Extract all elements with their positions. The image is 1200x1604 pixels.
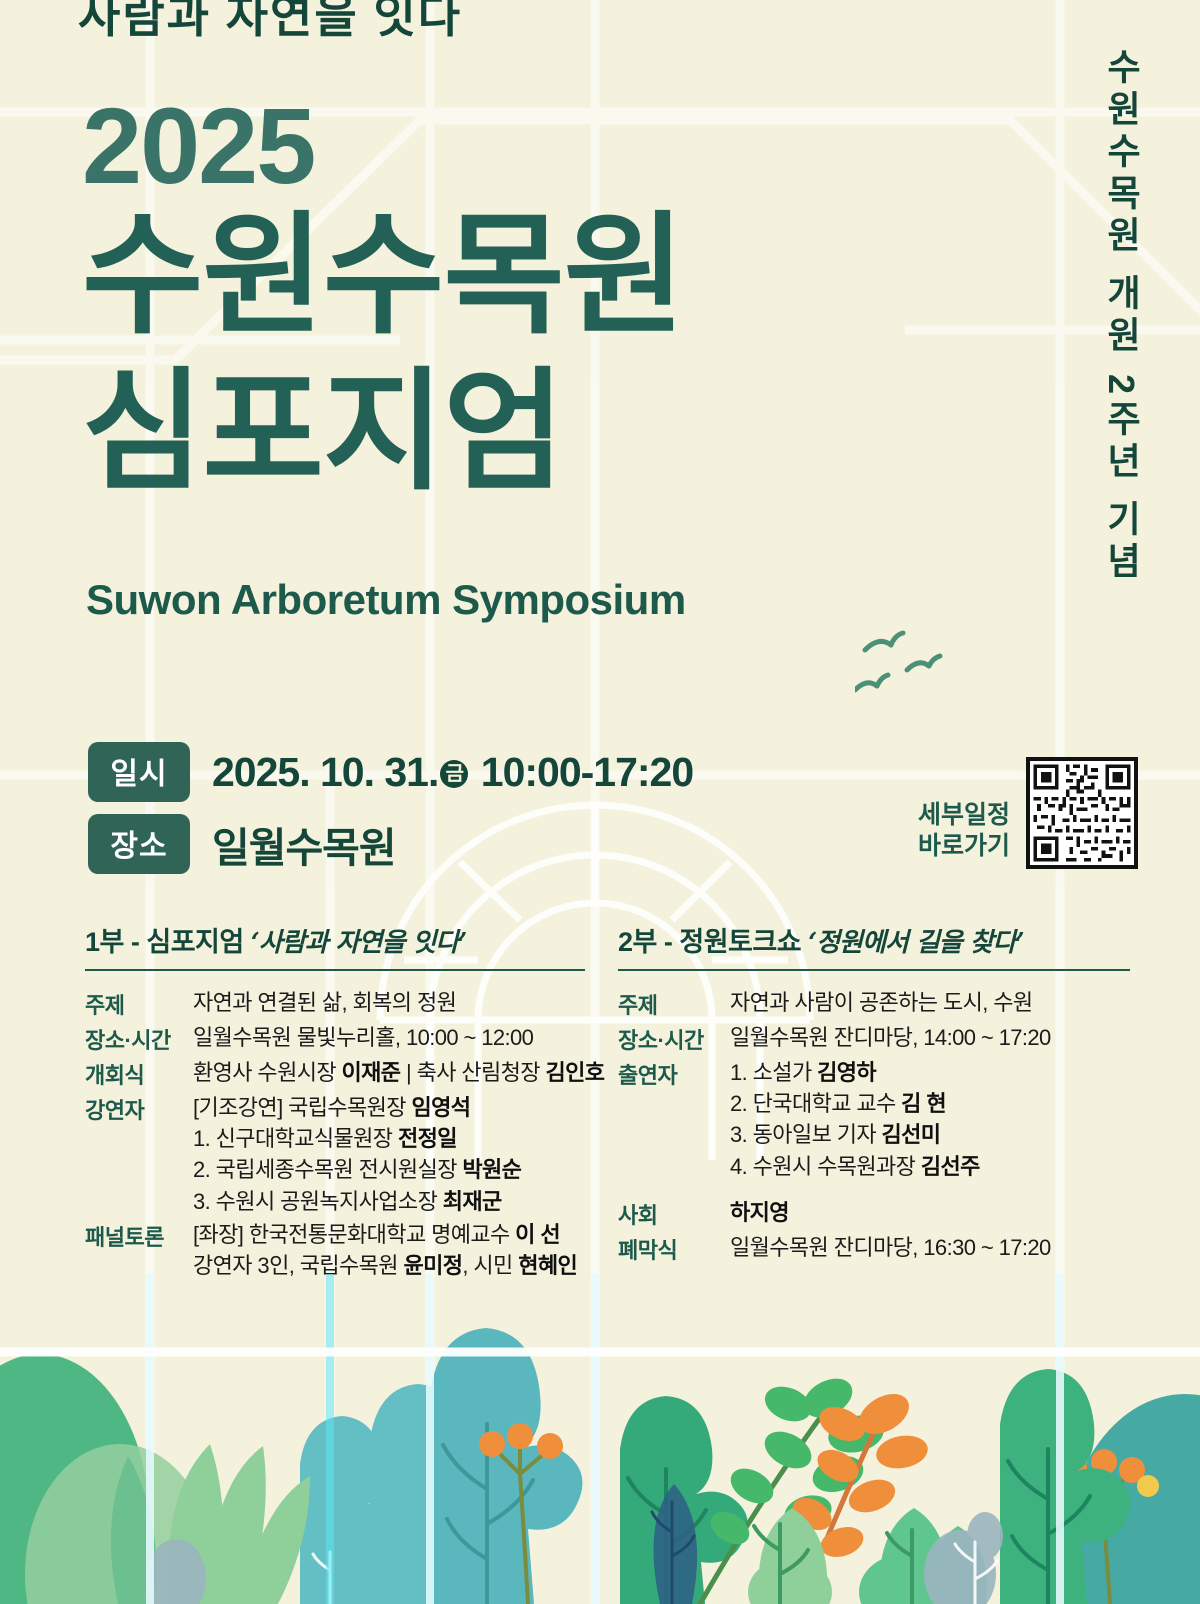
qr-caption: 세부일정 바로가기: [918, 800, 1010, 863]
part2-heading: 2부 - 정원토크쇼 ‘정원에서 길을 찾다’: [618, 920, 1138, 959]
part2-row-host: 사회 하지영: [618, 1197, 1138, 1230]
anniversary-vertical-text: 수원수목원 개원 2주년 기념: [1088, 6, 1144, 626]
part2-venue-body: 일월수목원 잔디마당, 14:00 ~ 17:20: [730, 1022, 1138, 1055]
part2-row-cast: 출연자 1. 소설가 김영하 2. 단국대학교 교수 김 현 3. 동아일보 기…: [618, 1057, 1138, 1182]
part1-heading: 1부 - 심포지엄 ‘사람과 자연을 잇다’: [85, 920, 600, 959]
part1-heading-main: 1부 - 심포지엄: [85, 927, 244, 957]
qr-caption-line1: 세부일정: [918, 800, 1010, 831]
part2-closing-label: 폐막식: [618, 1232, 730, 1265]
place-value: 일월수목원: [212, 814, 396, 874]
part1-row-opening: 개회식 환영사 수원시장 이재준 | 축사 산림청장 김인호: [85, 1057, 600, 1090]
date-prefix: 2025. 10. 31.: [212, 749, 438, 795]
part1-row-venue-time: 장소·시간 일월수목원 물빛누리홀, 10:00 ~ 12:00: [85, 1022, 600, 1055]
part2-heading-quote: ‘정원에서 길을 찾다’: [808, 928, 1024, 958]
date-time-range: 10:00-17:20: [481, 749, 693, 795]
part2-heading-main: 2부 - 정원토크쇼: [618, 927, 801, 957]
part1-venue-line: 일월수목원 물빛누리홀, 10:00 ~ 12:00: [193, 1022, 600, 1053]
part2-closing-line: 일월수목원 잔디마당, 16:30 ~ 17:20: [730, 1232, 1138, 1263]
poster-canvas: 사람과 자연을 잇다 2025 수원수목원 심포지엄 Suwon Arboret…: [0, 0, 1200, 1604]
part1-topic-line: 자연과 연결된 삶, 회복의 정원: [193, 987, 600, 1018]
part2-topic-body: 자연과 사람이 공존하는 도시, 수원: [730, 987, 1138, 1020]
part1-row-panel: 패널토론 [좌장] 한국전통문화대학교 명예교수 이 선 강연자 3인, 국립수…: [85, 1219, 600, 1281]
part1-speakers-label: 강연자: [85, 1092, 193, 1217]
weekday-chip: 금: [440, 760, 468, 788]
event-place-row: 장소 일월수목원: [88, 814, 693, 874]
part1-topic-body: 자연과 연결된 삶, 회복의 정원: [193, 987, 600, 1020]
bottom-foliage-icon: [0, 1274, 1200, 1604]
part2-cast-body: 1. 소설가 김영하 2. 단국대학교 교수 김 현 3. 동아일보 기자 김선…: [730, 1057, 1138, 1182]
part2-venue-label: 장소·시간: [618, 1022, 730, 1055]
part2-closing-body: 일월수목원 잔디마당, 16:30 ~ 17:20: [730, 1232, 1138, 1265]
part1-divider: [85, 969, 585, 971]
part2-host-value: 하지영: [730, 1200, 789, 1225]
part1-speaker-1: 1. 신구대학교식물원장 전정일: [193, 1123, 600, 1154]
flying-birds-icon: [855, 628, 965, 708]
part2-divider: [618, 969, 1130, 971]
date-label-badge: 일시: [88, 742, 190, 802]
event-date-row: 일시 2025. 10. 31.금 10:00-17:20: [88, 742, 693, 802]
part2-host-label: 사회: [618, 1197, 730, 1230]
part2-cast-1: 1. 소설가 김영하: [730, 1057, 1138, 1088]
part1-panel-chair: [좌장] 한국전통문화대학교 명예교수 이 선: [193, 1219, 600, 1250]
part2-topic-line: 자연과 사람이 공존하는 도시, 수원: [730, 987, 1138, 1018]
part1-venue-label: 장소·시간: [85, 1022, 193, 1055]
qr-code-modules: [1030, 761, 1134, 865]
part1-topic-label: 주제: [85, 987, 193, 1020]
part2-cast-4: 4. 수원시 수목원과장 김선주: [730, 1151, 1138, 1182]
part2-spacer: [618, 1184, 1138, 1197]
part2-topic-label: 주제: [618, 987, 730, 1020]
poster-subtitle-english: Suwon Arboretum Symposium: [86, 576, 686, 624]
part2-venue-line: 일월수목원 잔디마당, 14:00 ~ 17:20: [730, 1022, 1138, 1053]
part2-row-venue-time: 장소·시간 일월수목원 잔디마당, 14:00 ~ 17:20: [618, 1022, 1138, 1055]
part1-speakers-body: [기조강연] 국립수목원장 임영석 1. 신구대학교식물원장 전정일 2. 국립…: [193, 1092, 600, 1217]
part1-panel-label: 패널토론: [85, 1219, 193, 1281]
poster-title: 수원수목원 심포지엄: [82, 198, 684, 510]
date-value: 2025. 10. 31.금 10:00-17:20: [212, 749, 693, 796]
part1-opening-body: 환영사 수원시장 이재준 | 축사 산림청장 김인호: [193, 1057, 604, 1090]
place-label-badge: 장소: [88, 814, 190, 874]
part1-panel-body: [좌장] 한국전통문화대학교 명예교수 이 선 강연자 3인, 국립수목원 윤미…: [193, 1219, 600, 1281]
qr-code-link[interactable]: [1026, 757, 1138, 869]
part1-heading-quote: ‘사람과 자연을 잇다’: [251, 928, 467, 958]
part1-speaker-3: 3. 수원시 공원녹지사업소장 최재군: [193, 1186, 600, 1217]
part1-speaker-2: 2. 국립세종수목원 전시원실장 박원순: [193, 1154, 600, 1185]
program-part2: 2부 - 정원토크쇼 ‘정원에서 길을 찾다’ 주제 자연과 사람이 공존하는 …: [618, 920, 1138, 1267]
part1-venue-body: 일월수목원 물빛누리홀, 10:00 ~ 12:00: [193, 1022, 600, 1055]
part2-cast-2: 2. 단국대학교 교수 김 현: [730, 1088, 1138, 1119]
part1-speaker-keynote: [기조강연] 국립수목원장 임영석: [193, 1092, 600, 1123]
event-info-block: 일시 2025. 10. 31.금 10:00-17:20 장소 일월수목원: [88, 742, 693, 886]
program-part1: 1부 - 심포지엄 ‘사람과 자연을 잇다’ 주제 자연과 연결된 삶, 회복의…: [85, 920, 600, 1283]
qr-caption-line2: 바로가기: [918, 831, 1010, 862]
poster-title-line2: 심포지엄: [82, 354, 684, 510]
poster-title-line1: 수원수목원: [82, 202, 684, 349]
part2-row-closing: 폐막식 일월수목원 잔디마당, 16:30 ~ 17:20: [618, 1232, 1138, 1265]
part1-row-topic: 주제 자연과 연결된 삶, 회복의 정원: [85, 987, 600, 1020]
qr-code-image[interactable]: [1026, 757, 1138, 869]
part2-host-body: 하지영: [730, 1197, 1138, 1230]
part1-opening-label: 개회식: [85, 1057, 193, 1090]
poster-tagline: 사람과 자연을 잇다: [78, 0, 462, 43]
part2-row-topic: 주제 자연과 사람이 공존하는 도시, 수원: [618, 987, 1138, 1020]
part1-opening-line: 환영사 수원시장 이재준 | 축사 산림청장 김인호: [193, 1057, 604, 1088]
part2-host-name: 하지영: [730, 1197, 1138, 1228]
part2-cast-label: 출연자: [618, 1057, 730, 1182]
part1-row-speakers: 강연자 [기조강연] 국립수목원장 임영석 1. 신구대학교식물원장 전정일 2…: [85, 1092, 600, 1217]
poster-year: 2025: [82, 92, 314, 200]
part2-cast-3: 3. 동아일보 기자 김선미: [730, 1119, 1138, 1150]
